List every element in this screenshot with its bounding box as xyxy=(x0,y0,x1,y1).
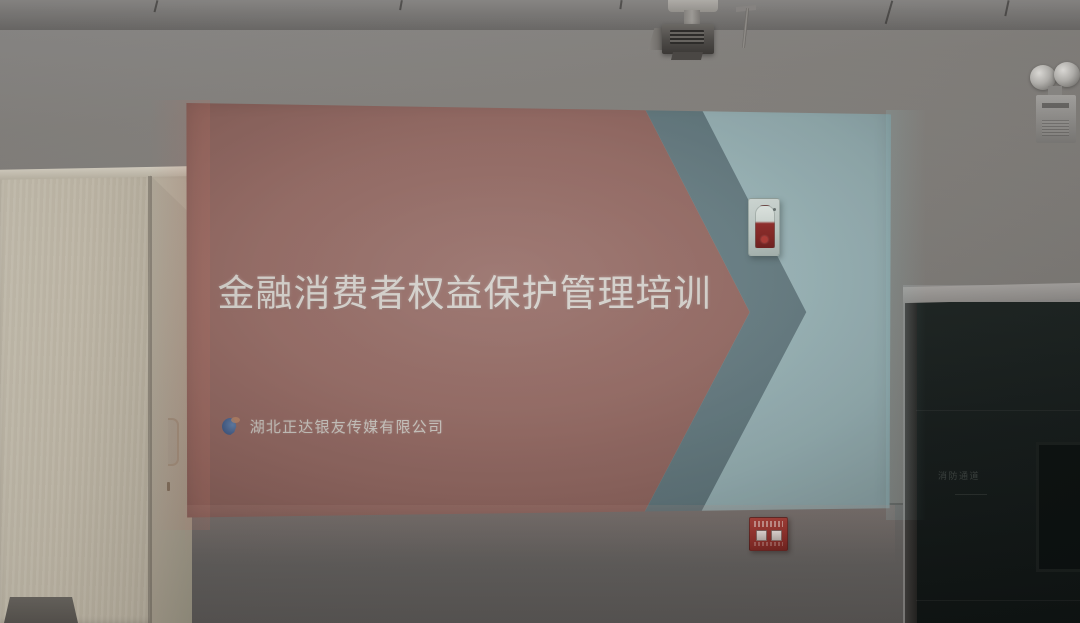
alarm-pull-station-icon[interactable] xyxy=(748,198,780,256)
alarm-call-point-icon[interactable] xyxy=(749,517,788,551)
stool-icon xyxy=(4,597,78,623)
door-sign-text: 消防通道 xyxy=(938,469,980,482)
door-sign-underline xyxy=(955,494,987,495)
call-point-label xyxy=(754,521,783,527)
pull-station-screw xyxy=(773,208,776,211)
door-jamb xyxy=(905,300,917,623)
emergency-light-grill xyxy=(1042,120,1069,136)
cabinet-handle-icon[interactable] xyxy=(168,418,179,466)
pull-station-indicator xyxy=(761,236,768,243)
ceiling-seam xyxy=(885,0,894,24)
emergency-light-icon xyxy=(1054,62,1080,87)
projector-lens-icon xyxy=(670,30,704,44)
ceiling-seam xyxy=(154,0,159,12)
ceiling-seam xyxy=(619,0,622,9)
call-point-button[interactable] xyxy=(756,530,767,541)
ceiling xyxy=(0,0,1080,30)
cabinet-lock-icon[interactable] xyxy=(167,482,170,491)
ceiling-seam xyxy=(1004,0,1009,16)
projector-foot xyxy=(671,52,703,60)
emergency-light-label xyxy=(1042,103,1069,108)
slide-footer: 湖北正达银友传媒有限公司 xyxy=(222,416,444,437)
door-seam xyxy=(916,410,1080,411)
crescent-logo-icon xyxy=(222,417,241,436)
cabinet-side-panel xyxy=(150,175,192,623)
door-window-icon xyxy=(1036,442,1080,572)
projection-screen: 金融消费者权益保护管理培训 湖北正达银友传媒有限公司 xyxy=(185,100,891,520)
call-point-sublabel xyxy=(754,542,783,546)
ceiling-seam xyxy=(399,0,403,10)
presentation-slide: 金融消费者权益保护管理培训 湖北正达银友传媒有限公司 xyxy=(185,100,891,520)
call-point-button[interactable] xyxy=(771,530,782,541)
slide-company-name: 湖北正达银友传媒有限公司 xyxy=(250,416,444,437)
slide-title: 金融消费者权益保护管理培训 xyxy=(217,274,711,315)
crescent-logo-spark xyxy=(231,417,240,423)
door-seam xyxy=(916,600,1080,601)
photo-scene: 消防通道 金融消费者权益保护管理培训 湖北正达银友传媒有限公司 xyxy=(0,0,1080,623)
cabinet-edge-shadow xyxy=(148,176,152,623)
